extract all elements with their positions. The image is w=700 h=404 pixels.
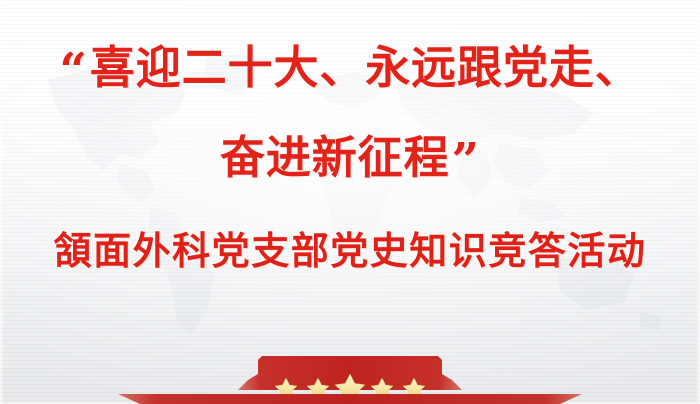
headline-line-2-text: 奋进新征程 bbox=[220, 131, 450, 184]
headline-line-3: 頷面外科党支部党史知识竞答活动 bbox=[0, 228, 700, 274]
headline-line-2: 奋进新征程” bbox=[0, 132, 700, 184]
poster-canvas: “喜迎二十大、永远跟党走、 奋进新征程” 頷面外科党支部党史知识竞答活动 bbox=[0, 0, 700, 404]
headline-line-1: “喜迎二十大、永远跟党走、 bbox=[0, 42, 700, 94]
headline-line-1-text: 喜迎二十大、永远跟党走、 bbox=[90, 41, 641, 94]
rostrum-base-bar bbox=[118, 394, 582, 404]
rostrum-emblem bbox=[0, 354, 700, 404]
